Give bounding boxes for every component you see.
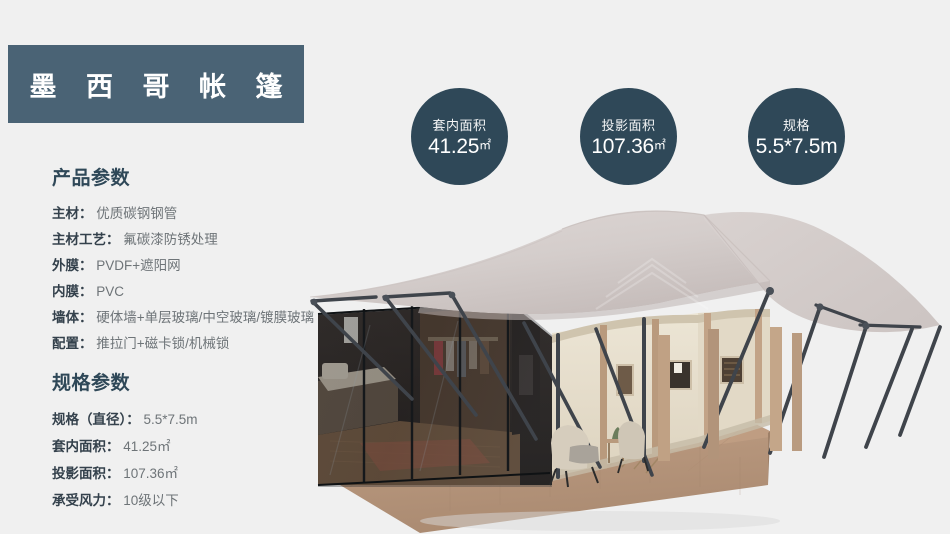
param-label: 配置：	[52, 336, 93, 351]
param-value: 5.5*7.5m	[144, 412, 198, 427]
page-title: 墨 西 哥 帐 篷	[18, 65, 293, 104]
param-value: 107.36㎡	[123, 466, 178, 481]
param-label: 承受风力：	[52, 493, 120, 508]
param-value: 氟碳漆防锈处理	[123, 232, 218, 247]
stat-badge-dimensions: 规格 5.5*7.5m	[748, 88, 845, 185]
product-spec-page: 墨 西 哥 帐 篷 产品参数 主材： 优质碳钢钢管 主材工艺： 氟碳漆防锈处理 …	[0, 0, 950, 534]
param-value: 优质碳钢钢管	[96, 206, 177, 221]
stat-badge-value: 107.36㎡	[591, 135, 665, 159]
param-value: 硬体墙+单层玻璃/中空玻璃/镀膜玻璃	[96, 310, 314, 325]
stat-badge-label: 投影面积	[601, 115, 655, 134]
mexico-tent-render	[300, 185, 950, 534]
param-value: 10级以下	[123, 493, 179, 508]
param-label: 规格（直径）：	[52, 412, 140, 427]
param-value: PVC	[96, 284, 124, 299]
param-value: PVDF+遮阳网	[96, 258, 180, 273]
param-label: 投影面积：	[52, 466, 120, 481]
stat-badge-projected-area: 投影面积 107.36㎡	[580, 88, 677, 185]
stat-badge-label: 规格	[783, 115, 810, 134]
param-label: 套内面积：	[52, 439, 120, 454]
param-label: 主材：	[52, 206, 93, 221]
param-label: 主材工艺：	[52, 232, 120, 247]
param-value: 推拉门+磁卡锁/机械锁	[96, 336, 229, 351]
stat-badge-interior-area: 套内面积 41.25㎡	[411, 88, 508, 185]
param-label: 外膜：	[52, 258, 93, 273]
param-label: 墙体：	[52, 310, 93, 325]
param-value: 41.25㎡	[123, 439, 170, 454]
stat-badge-value: 5.5*7.5m	[756, 135, 838, 159]
stat-badge-value: 41.25㎡	[428, 135, 491, 159]
stat-badge-label: 套内面积	[432, 115, 486, 134]
param-label: 内膜：	[52, 284, 93, 299]
title-banner: 墨 西 哥 帐 篷	[8, 45, 304, 123]
